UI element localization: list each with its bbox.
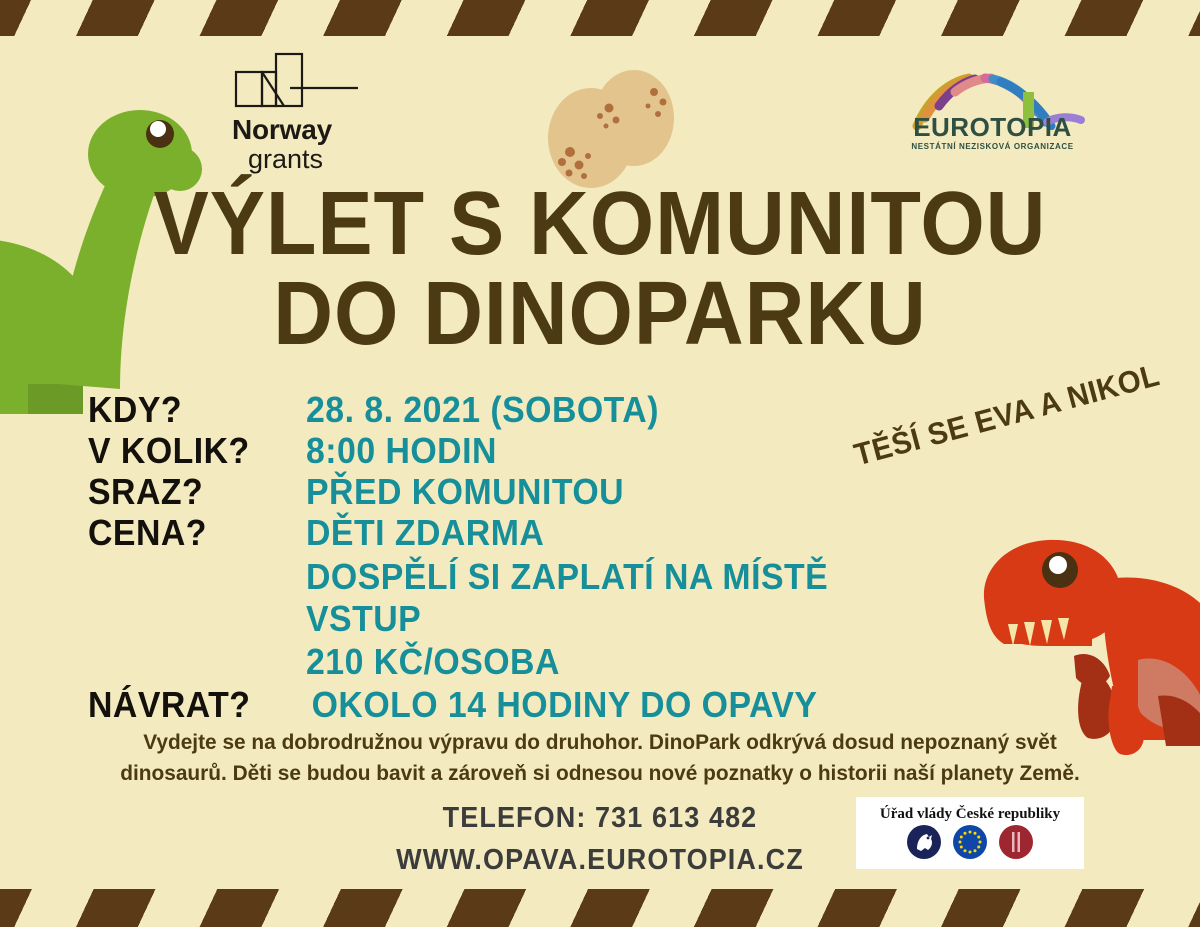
- detail-value-cena: DĚTI ZDARMA: [306, 515, 544, 551]
- detail-value-cena-price: 210 KČ/OSOBA: [306, 641, 947, 683]
- description-line-2: dinosaurů. Děti se budou bavit a zároveň…: [76, 758, 1124, 789]
- government-logo-title: Úřad vlády České republiky: [880, 807, 1060, 822]
- government-emblems: [907, 825, 1033, 859]
- detail-value-kdy: 28. 8. 2021 (SOBOTA): [306, 392, 659, 428]
- norway-grants-logo: Norway grants: [232, 48, 382, 175]
- detail-value-v-kolik: 8:00 HODIN: [306, 433, 497, 469]
- detail-label-sraz: SRAZ?: [88, 474, 293, 510]
- detail-label-v-kolik: V KOLIK?: [88, 433, 293, 469]
- eurotopia-tagline: NESTÁTNÍ NEZISKOVÁ ORGANIZACE: [895, 142, 1090, 151]
- eurotopia-wordmark: EUROTOPIA: [895, 112, 1090, 143]
- detail-row-navrat: NÁVRAT? OKOLO 14 HODINY DO OPAVY: [88, 687, 988, 723]
- detail-label-navrat: NÁVRAT?: [88, 687, 293, 723]
- government-logo: Úřad vlády České republiky: [856, 797, 1084, 869]
- norway-grants-wordmark: Norway: [232, 115, 382, 144]
- stripes-top: [0, 0, 1200, 36]
- detail-value-cena-adults: DOSPĚLÍ SI ZAPLATÍ NA MÍSTĚ VSTUP: [306, 556, 947, 641]
- dinosaur-eggs-illustration: [536, 70, 686, 190]
- detail-row-kdy: KDY? 28. 8. 2021 (SOBOTA): [88, 392, 988, 428]
- norway-grants-subword: grants: [248, 144, 382, 175]
- detail-value-navrat: OKOLO 14 HODINY DO OPAVY: [306, 687, 817, 723]
- description-line-1: Vydejte se na dobrodružnou výpravu do dr…: [76, 727, 1124, 758]
- red-trex-illustration: [952, 510, 1200, 760]
- detail-label-kdy: KDY?: [88, 392, 293, 428]
- title-line-1: VÝLET S KOMUNITOU: [48, 180, 1152, 268]
- czech-lion-emblem-icon: [907, 825, 941, 859]
- eurotopia-logo: EUROTOPIA NESTÁTNÍ NEZISKOVÁ ORGANIZACE: [895, 70, 1090, 165]
- norway-grants-mark-icon: [232, 48, 362, 110]
- eu-stars-emblem-icon: [953, 825, 987, 859]
- detail-label-cena: CENA?: [88, 515, 293, 551]
- detail-row-cena: CENA? DĚTI ZDARMA: [88, 515, 988, 551]
- detail-value-sraz: PŘED KOMUNITOU: [306, 474, 624, 510]
- red-pillar-emblem-icon: [999, 825, 1033, 859]
- description-paragraph: Vydejte se na dobrodružnou výpravu do dr…: [76, 727, 1124, 789]
- poster-root: Norway grants EUROTOPIA NESTÁTNÍ NEZISKO…: [0, 0, 1200, 927]
- title-line-2: DO DINOPARKU: [48, 270, 1152, 358]
- stripes-bottom: [0, 889, 1200, 927]
- poster-title: VÝLET S KOMUNITOU DO DINOPARKU: [0, 180, 1200, 358]
- detail-row-sraz: SRAZ? PŘED KOMUNITOU: [88, 474, 988, 510]
